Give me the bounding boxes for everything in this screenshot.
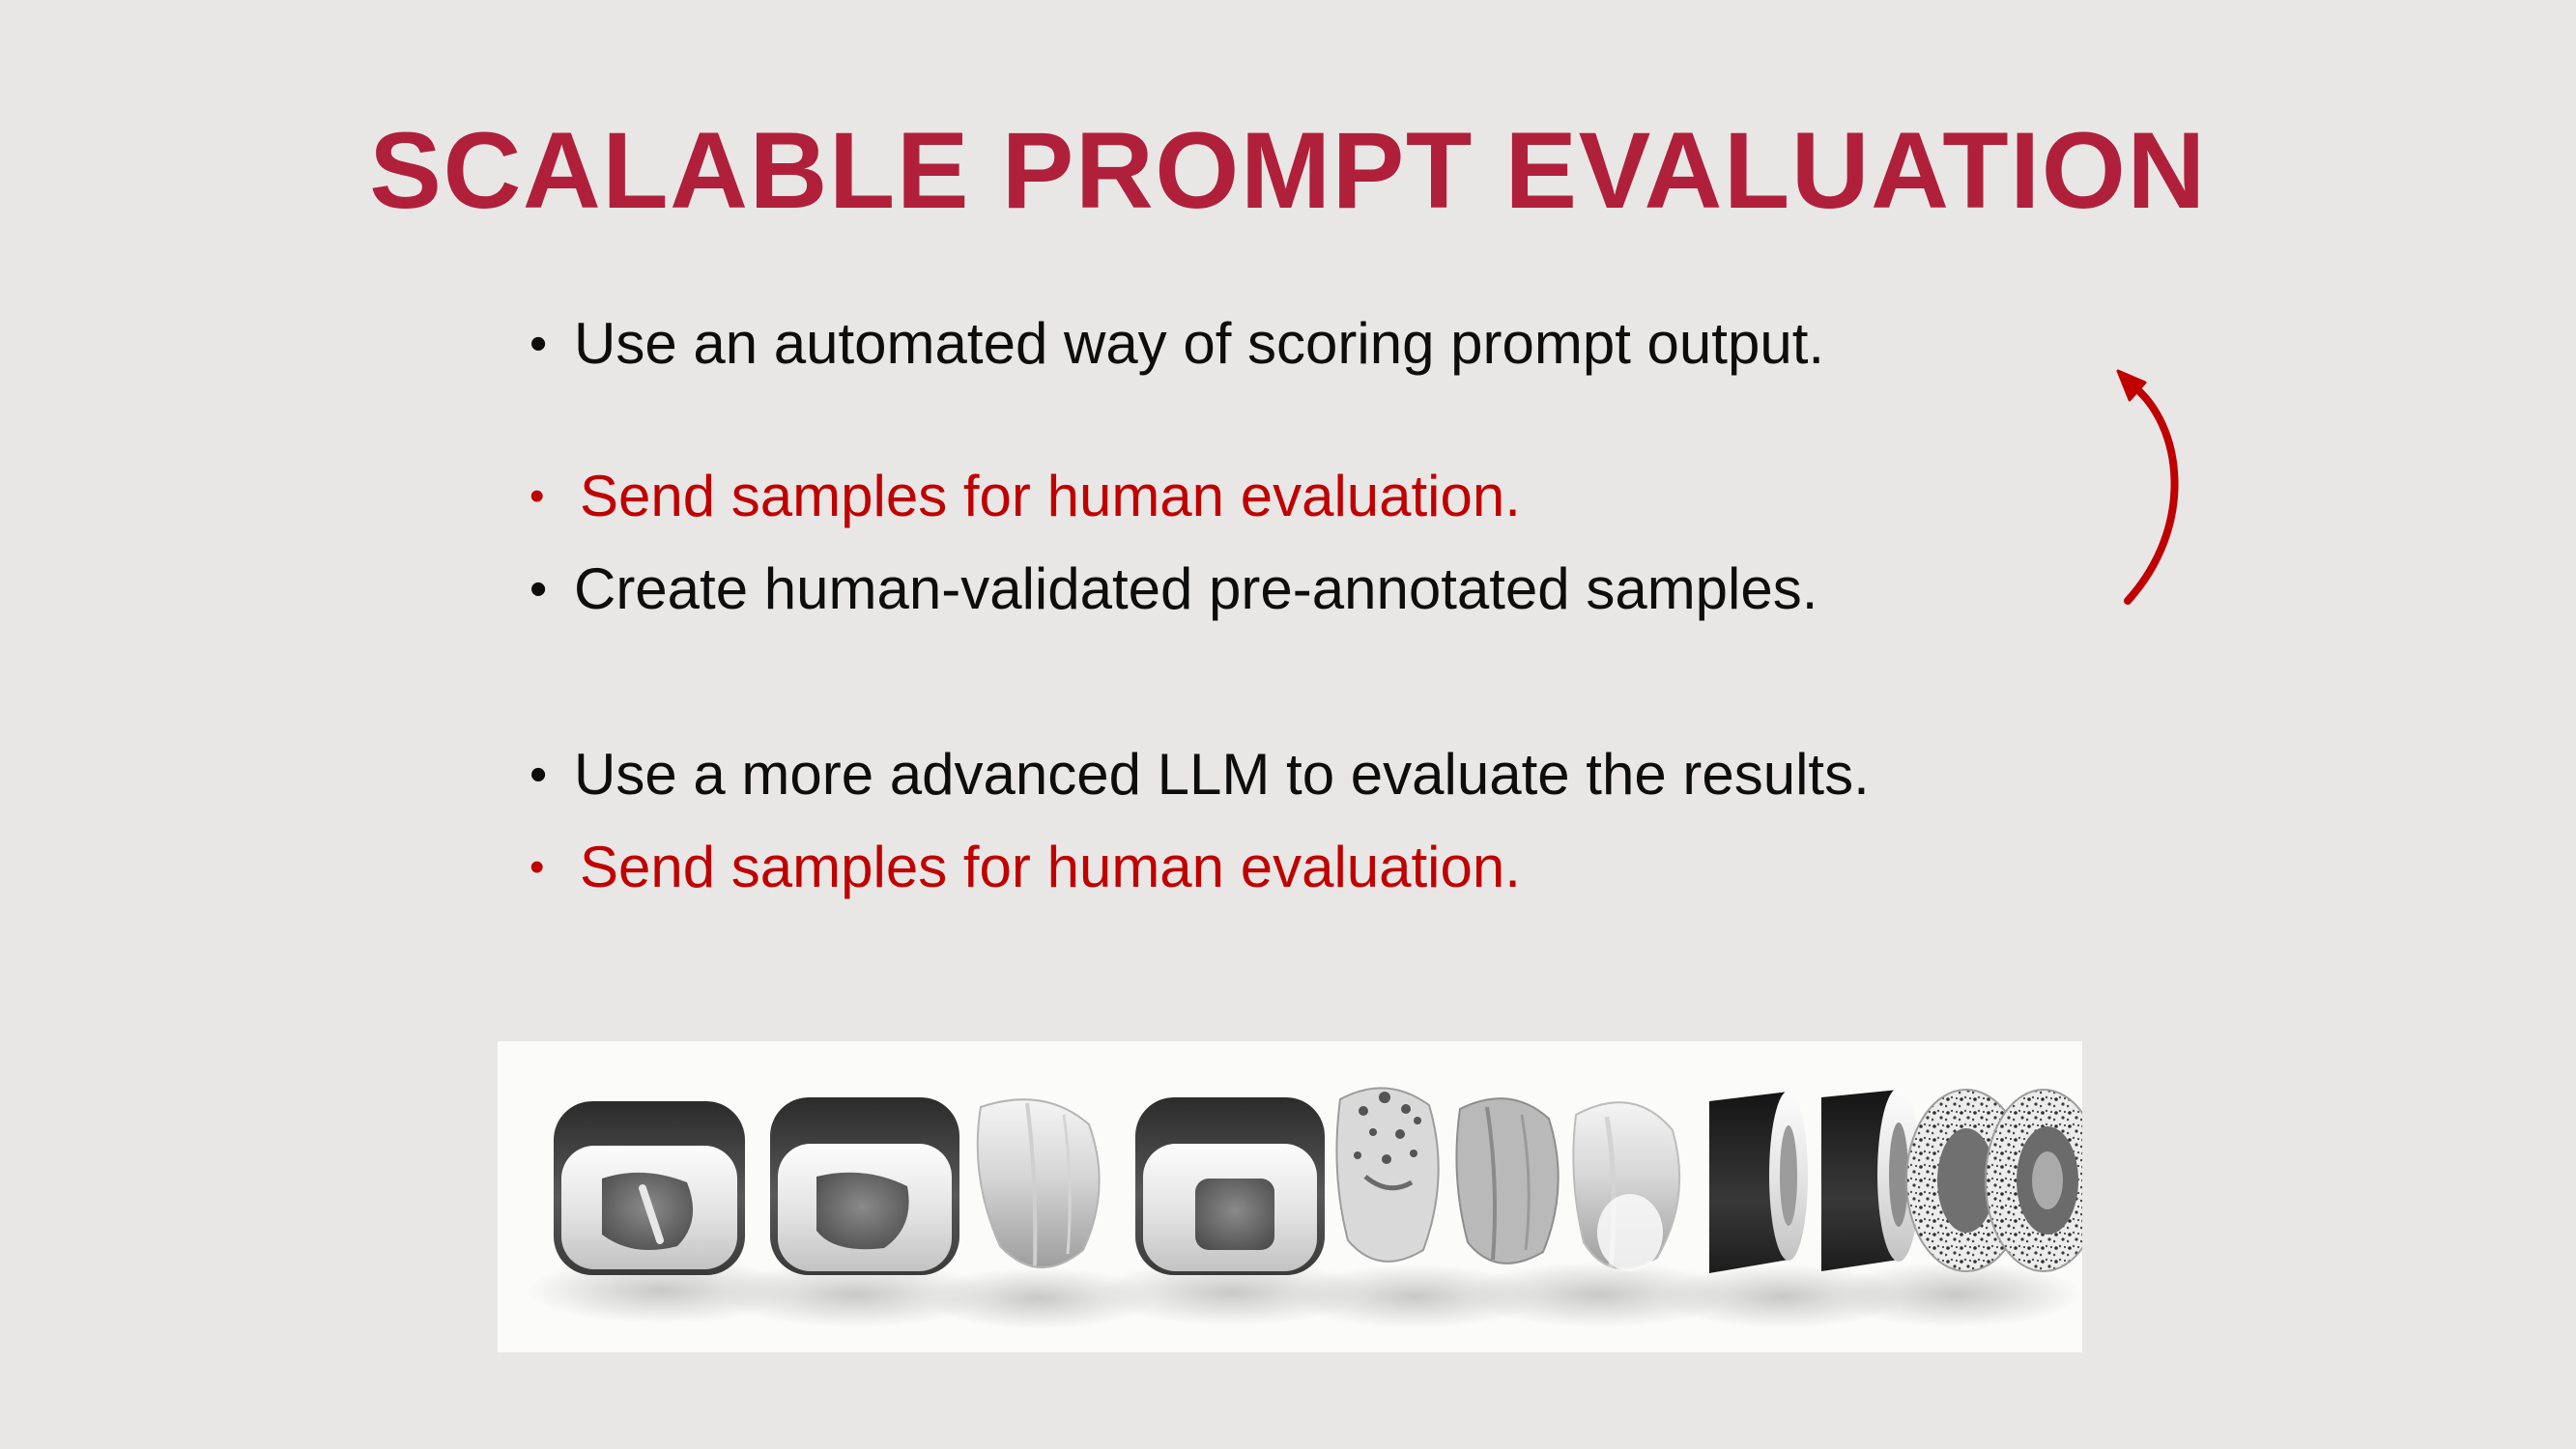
bullet-point-icon: • bbox=[530, 543, 574, 636]
bullet-item-4-text: Use a more advanced LLM to evaluate the … bbox=[574, 728, 1870, 821]
bullet-item-1: • Use an automated way of scoring prompt… bbox=[530, 298, 2191, 390]
bullet-item-2: • Send samples for human evaluation. bbox=[530, 450, 2191, 543]
bullet-spacer-2 bbox=[530, 636, 2191, 728]
bullet-point-icon: • bbox=[530, 450, 574, 543]
bullet-spacer-1 bbox=[530, 390, 2191, 450]
bullet-item-4: • Use a more advanced LLM to evaluate th… bbox=[530, 728, 2191, 821]
sushi-illustration bbox=[498, 1041, 2082, 1352]
bullet-item-3-text: Create human-validated pre-annotated sam… bbox=[574, 543, 1818, 636]
bullet-item-5: • Send samples for human evaluation. bbox=[530, 821, 2191, 914]
bullet-point-icon: • bbox=[530, 821, 574, 914]
bullet-list: • Use an automated way of scoring prompt… bbox=[530, 298, 2191, 914]
slide-canvas: SCALABLE PROMPT EVALUATION • Use an auto… bbox=[0, 0, 2576, 1449]
bullet-point-icon: • bbox=[530, 298, 574, 390]
bullet-item-2-text: Send samples for human evaluation. bbox=[574, 450, 1521, 543]
bullet-item-3: • Create human-validated pre-annotated s… bbox=[530, 543, 2191, 636]
bullet-item-1-text: Use an automated way of scoring prompt o… bbox=[574, 298, 1824, 390]
sushi-row-icon bbox=[498, 1041, 2082, 1352]
bullet-point-icon: • bbox=[530, 728, 574, 821]
slide-title: SCALABLE PROMPT EVALUATION bbox=[0, 114, 2576, 228]
bullet-item-5-text: Send samples for human evaluation. bbox=[574, 821, 1521, 914]
